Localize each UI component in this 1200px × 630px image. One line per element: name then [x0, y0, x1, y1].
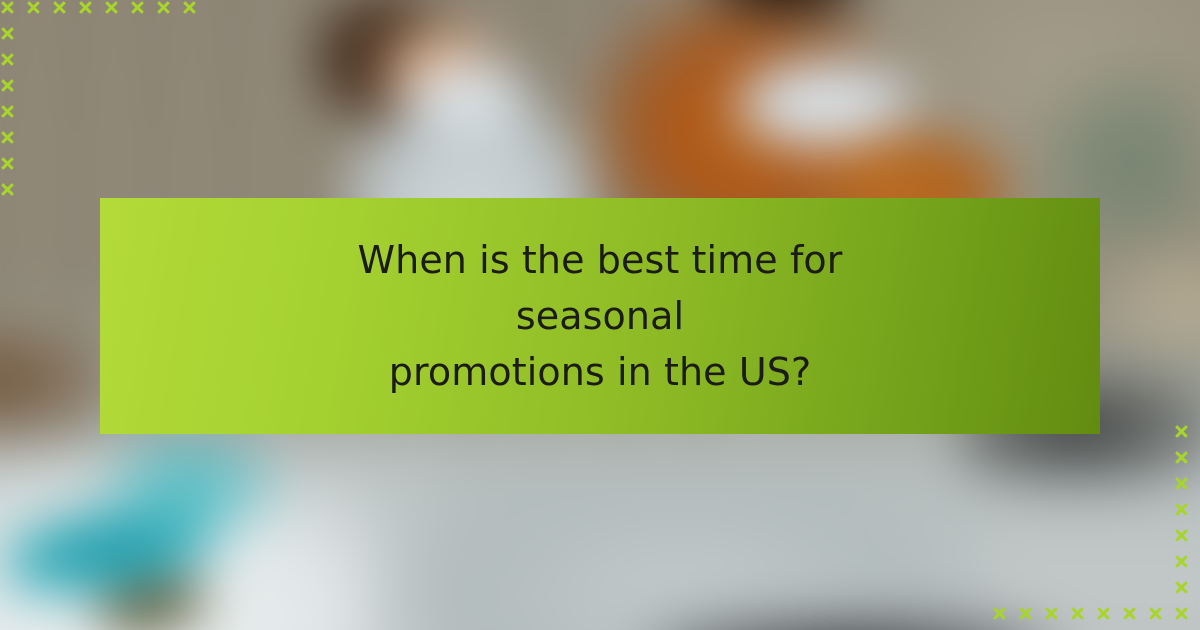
x-mark-icon	[1174, 424, 1189, 439]
x-mark-icon	[1122, 606, 1137, 621]
x-mark-icon	[130, 0, 145, 15]
x-mark-icon	[0, 104, 15, 119]
background-teal-object-b	[100, 430, 280, 540]
x-mark-icon	[1044, 606, 1059, 621]
x-pattern-top-left	[0, 0, 215, 205]
x-mark-icon	[1174, 502, 1189, 517]
x-mark-icon	[156, 0, 171, 15]
x-mark-icon	[78, 0, 93, 15]
x-mark-icon	[182, 0, 197, 15]
x-mark-icon	[0, 78, 15, 93]
x-mark-icon	[0, 0, 15, 15]
headline-text: When is the best time for seasonalpromot…	[220, 232, 980, 400]
banner-card: When is the best time for seasonalpromot…	[0, 0, 1200, 630]
x-mark-icon	[26, 0, 41, 15]
x-mark-icon	[1018, 606, 1033, 621]
x-mark-icon	[1174, 554, 1189, 569]
x-mark-icon	[1070, 606, 1085, 621]
background-grey-cloth	[370, 470, 990, 630]
x-mark-icon	[0, 182, 15, 197]
x-pattern-bottom-right	[992, 424, 1200, 630]
background-adult-head	[712, 0, 862, 12]
x-mark-icon	[0, 52, 15, 67]
x-mark-icon	[1174, 528, 1189, 543]
x-mark-icon	[0, 130, 15, 145]
x-mark-icon	[1096, 606, 1111, 621]
x-mark-icon	[1174, 476, 1189, 491]
x-mark-icon	[1148, 606, 1163, 621]
background-shelf	[1090, 240, 1200, 360]
x-mark-icon	[1174, 450, 1189, 465]
x-mark-icon	[52, 0, 67, 15]
x-mark-icon	[992, 606, 1007, 621]
x-mark-icon	[1174, 580, 1189, 595]
x-mark-icon	[104, 0, 119, 15]
x-mark-icon	[0, 156, 15, 171]
x-mark-icon	[0, 26, 15, 41]
x-mark-icon	[1174, 606, 1189, 621]
headline-banner: When is the best time for seasonalpromot…	[100, 198, 1100, 434]
